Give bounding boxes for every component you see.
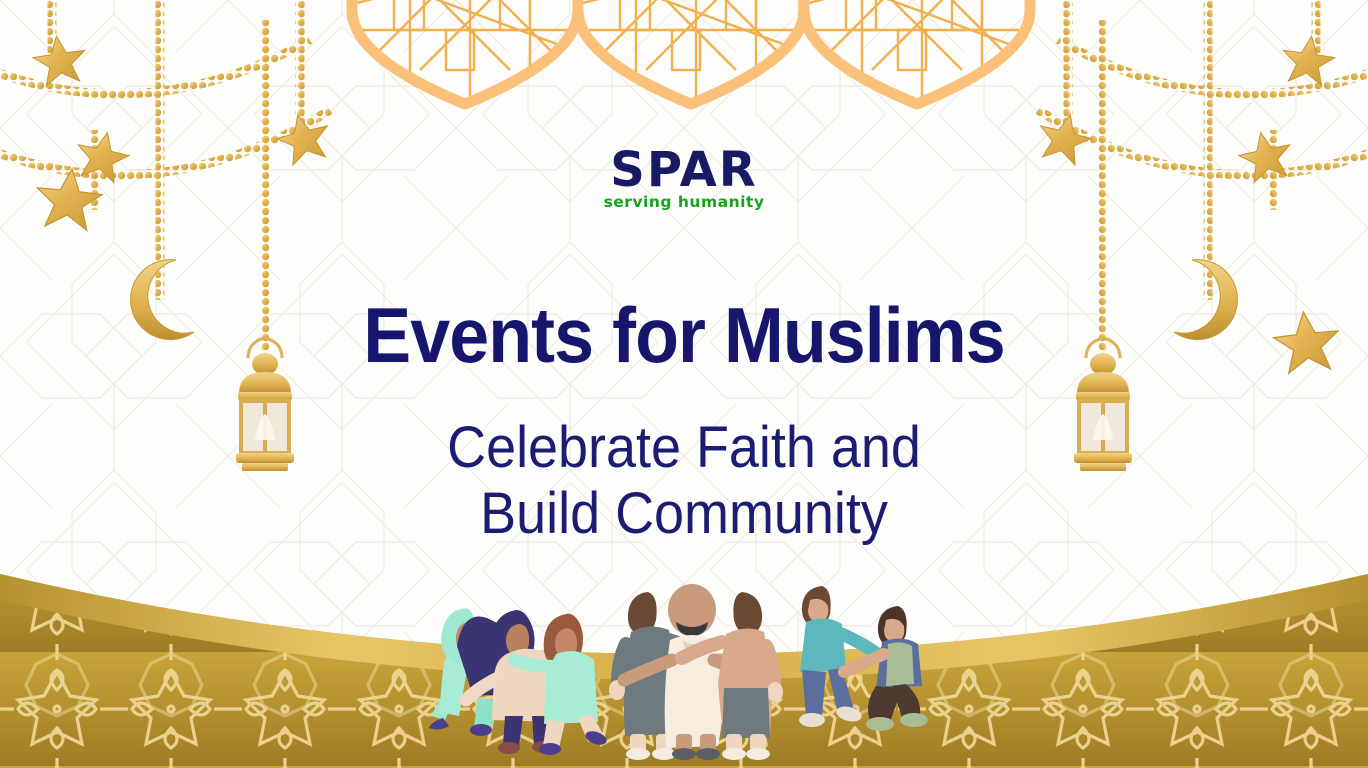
group-men-arms-around <box>609 584 783 760</box>
page-title: Events for Muslims <box>55 296 1314 374</box>
logo-tagline: serving humanity <box>0 195 1368 211</box>
group-women-embracing <box>429 608 608 755</box>
star-icon <box>31 33 89 87</box>
spar-logo: SPAR serving humanity <box>0 146 1368 211</box>
group-boys-helping <box>799 586 928 731</box>
poster-canvas: SPAR serving humanity Events for Muslims… <box>0 0 1368 768</box>
star-icon <box>1279 33 1337 87</box>
subtitle-line-1: Celebrate Faith and <box>48 415 1320 481</box>
page-subtitle: Celebrate Faith and Build Community <box>48 415 1320 546</box>
subtitle-line-2: Build Community <box>48 481 1320 547</box>
people-illustrations <box>0 548 1368 768</box>
logo-wordmark: SPAR <box>0 146 1368 194</box>
